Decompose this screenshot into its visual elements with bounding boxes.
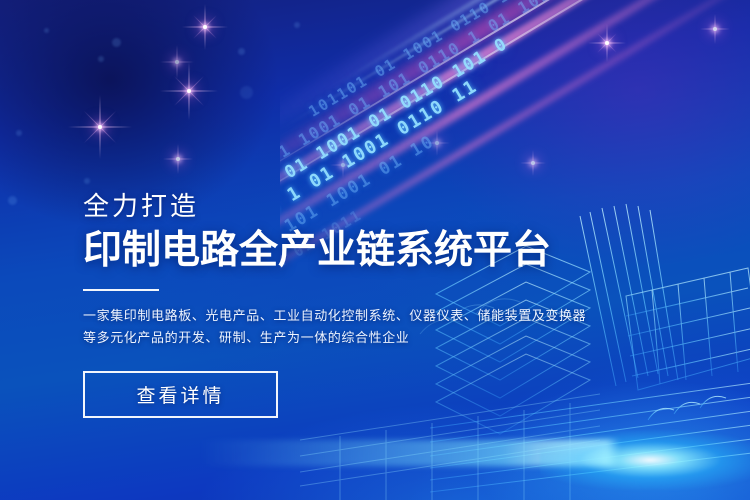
light-burst-tail <box>200 440 620 466</box>
sparkle-star <box>588 24 626 62</box>
description-line-2: 等多元化产品的开发、研制、生产为一体的综合性企业 <box>83 327 603 349</box>
sparkle-star <box>700 14 730 44</box>
sparkle-star <box>182 4 228 50</box>
light-streak <box>280 0 750 131</box>
sparkle-star <box>163 144 193 174</box>
binary-row: 1011 01 1001 01 0110 101 0 <box>280 34 512 215</box>
dust-speck <box>112 38 121 47</box>
hero-headline: 印制电路全产业链系统平台 <box>83 229 603 273</box>
sparkle-star <box>424 130 450 156</box>
hero-eyebrow: 全力打造 <box>83 192 603 221</box>
sparkle-star <box>160 62 218 120</box>
sparkle-star <box>330 152 356 178</box>
light-burst <box>540 430 750 490</box>
binary-row: 01 1001 01 101 0110 1 01 101 <box>280 0 554 168</box>
dust-speck <box>16 130 22 136</box>
hero-banner: 101101 01 1001 0110 101 01 01 1001 01 10… <box>0 0 750 500</box>
sparkle-star <box>520 150 546 176</box>
description-line-1: 一家集印制电路板、光电产品、工业自动化控制系统、仪器仪表、储能装置及变换器 <box>83 305 603 327</box>
hero-content: 全力打造 印制电路全产业链系统平台 一家集印制电路板、光电产品、工业自动化控制系… <box>83 192 603 418</box>
dust-speck <box>84 178 90 184</box>
dust-speck <box>240 86 253 99</box>
dust-speck <box>44 28 49 33</box>
view-details-button[interactable]: 查看详情 <box>83 371 278 418</box>
dust-speck <box>294 22 300 28</box>
light-streak <box>280 0 750 174</box>
sparkle-star <box>68 95 132 159</box>
hero-divider <box>83 289 159 291</box>
light-streak <box>280 0 750 198</box>
binary-row: 101101 01 1001 0110 101 01 <box>305 0 560 121</box>
hero-description: 一家集印制电路板、光电产品、工业自动化控制系统、仪器仪表、储能装置及变换器 等多… <box>83 305 603 349</box>
dust-speck <box>8 196 17 205</box>
dust-speck <box>98 56 104 62</box>
dust-speck <box>238 48 245 55</box>
sparkle-star <box>160 45 194 79</box>
light-streak <box>319 0 750 97</box>
